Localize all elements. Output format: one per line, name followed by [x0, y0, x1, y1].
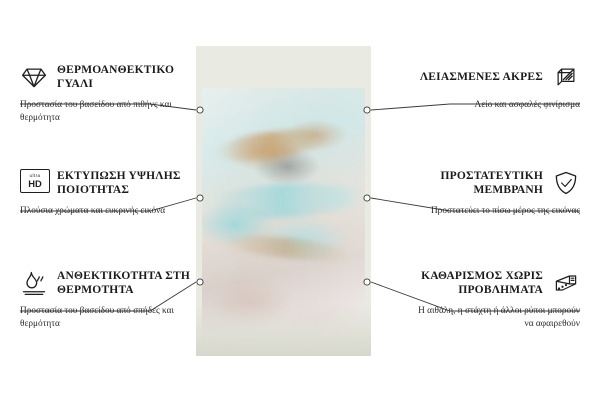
ultra-hd-icon: ultra HD [20, 169, 48, 197]
panel-base-shadow [196, 304, 371, 356]
feature-title: ΛΕΙΑΣΜΕΝΕΣ ΑΚΡΕΣ [420, 70, 543, 84]
smooth-edges-icon [552, 63, 580, 91]
feature-head: ΛΕΙΑΣΜΕΝΕΣ ΑΚΡΕΣ [408, 62, 580, 92]
feature-easy-cleaning: ΚΑΘΑΡΙΣΜΟΣ ΧΩΡΙΣ ΠΡΟΒΛΗΜΑΤΑ Η αιθάλη, η … [408, 268, 580, 330]
feature-heat-durability: ΑΝΘΕΚΤΙΚΟΤΗΤΑ ΣΤΗ ΘΕΡΜΟΤΗΤΑ Προστασία το… [20, 268, 192, 330]
feature-title: ΚΑΘΑΡΙΣΜΟΣ ΧΩΡΙΣ ΠΡΟΒΛΗΜΑΤΑ [408, 269, 543, 297]
feature-desc: Προστασία του βασείδου από σπήδες και θε… [20, 305, 192, 330]
feature-title: ΑΝΘΕΚΤΙΚΟΤΗΤΑ ΣΤΗ ΘΕΡΜΟΤΗΤΑ [57, 269, 192, 297]
feature-smooth-edges: ΛΕΙΑΣΜΕΝΕΣ ΑΚΡΕΣ Λείο και ασφαλές φινίρι… [408, 62, 580, 112]
feature-protective-membrane: ΠΡΟΣΤΑΤΕΥΤΙΚΗ ΜΕΜΒΡΑΝΗ Προστατεύει το πί… [408, 168, 580, 218]
hd-label: HD [28, 179, 42, 188]
diamond-icon [20, 63, 48, 91]
feature-desc: Η αιθάλη, η στάχτη ή άλλοι ρύποι μπορούν… [408, 305, 580, 330]
feature-heat-resistant-glass: ΘΕΡΜΟΑΝΘΕΚΤΙΚΟ ΓΥΑΛΙ Προστασία του βασεί… [20, 62, 192, 124]
feature-title: ΠΡΟΣΤΑΤΕΥΤΙΚΗ ΜΕΜΒΡΑΝΗ [408, 169, 543, 197]
feature-title: ΘΕΡΜΟΑΝΘΕΚΤΙΚΟ ΓΥΑΛΙ [57, 63, 192, 91]
sponge-clean-icon [552, 269, 580, 297]
feature-head: ΚΑΘΑΡΙΣΜΟΣ ΧΩΡΙΣ ΠΡΟΒΛΗΜΑΤΑ [408, 268, 580, 298]
infographic-root: ΘΕΡΜΟΑΝΘΕΚΤΙΚΟ ΓΥΑΛΙ Προστασία του βασεί… [0, 0, 600, 400]
feature-head: ΠΡΟΣΤΑΤΕΥΤΙΚΗ ΜΕΜΒΡΑΝΗ [408, 168, 580, 198]
feature-head: ΘΕΡΜΟΑΝΘΕΚΤΙΚΟ ΓΥΑΛΙ [20, 62, 192, 92]
heat-drop-icon [20, 269, 48, 297]
feature-title: ΕΚΤΥΠΩΣΗ ΥΨΗΛΗΣ ΠΟΙΟΤΗΤΑΣ [57, 169, 192, 197]
product-image-panel [196, 46, 371, 356]
feature-desc: Προστασία του βασείδου από πιθήνς και θε… [20, 99, 192, 124]
feature-head: ultra HD ΕΚΤΥΠΩΣΗ ΥΨΗΛΗΣ ΠΟΙΟΤΗΤΑΣ [20, 168, 192, 198]
shield-icon [552, 169, 580, 197]
feature-desc: Πλούσια χρώματα και ευκρινής εικόνα [20, 205, 192, 218]
feature-desc: Λείο και ασφαλές φινίρισμα [408, 99, 580, 112]
feature-desc: Προστατεύει το πίσω μέρος της εικόνας [408, 205, 580, 218]
feature-high-quality-print: ultra HD ΕΚΤΥΠΩΣΗ ΥΨΗΛΗΣ ΠΟΙΟΤΗΤΑΣ Πλούσ… [20, 168, 192, 218]
feature-head: ΑΝΘΕΚΤΙΚΟΤΗΤΑ ΣΤΗ ΘΕΡΜΟΤΗΤΑ [20, 268, 192, 298]
